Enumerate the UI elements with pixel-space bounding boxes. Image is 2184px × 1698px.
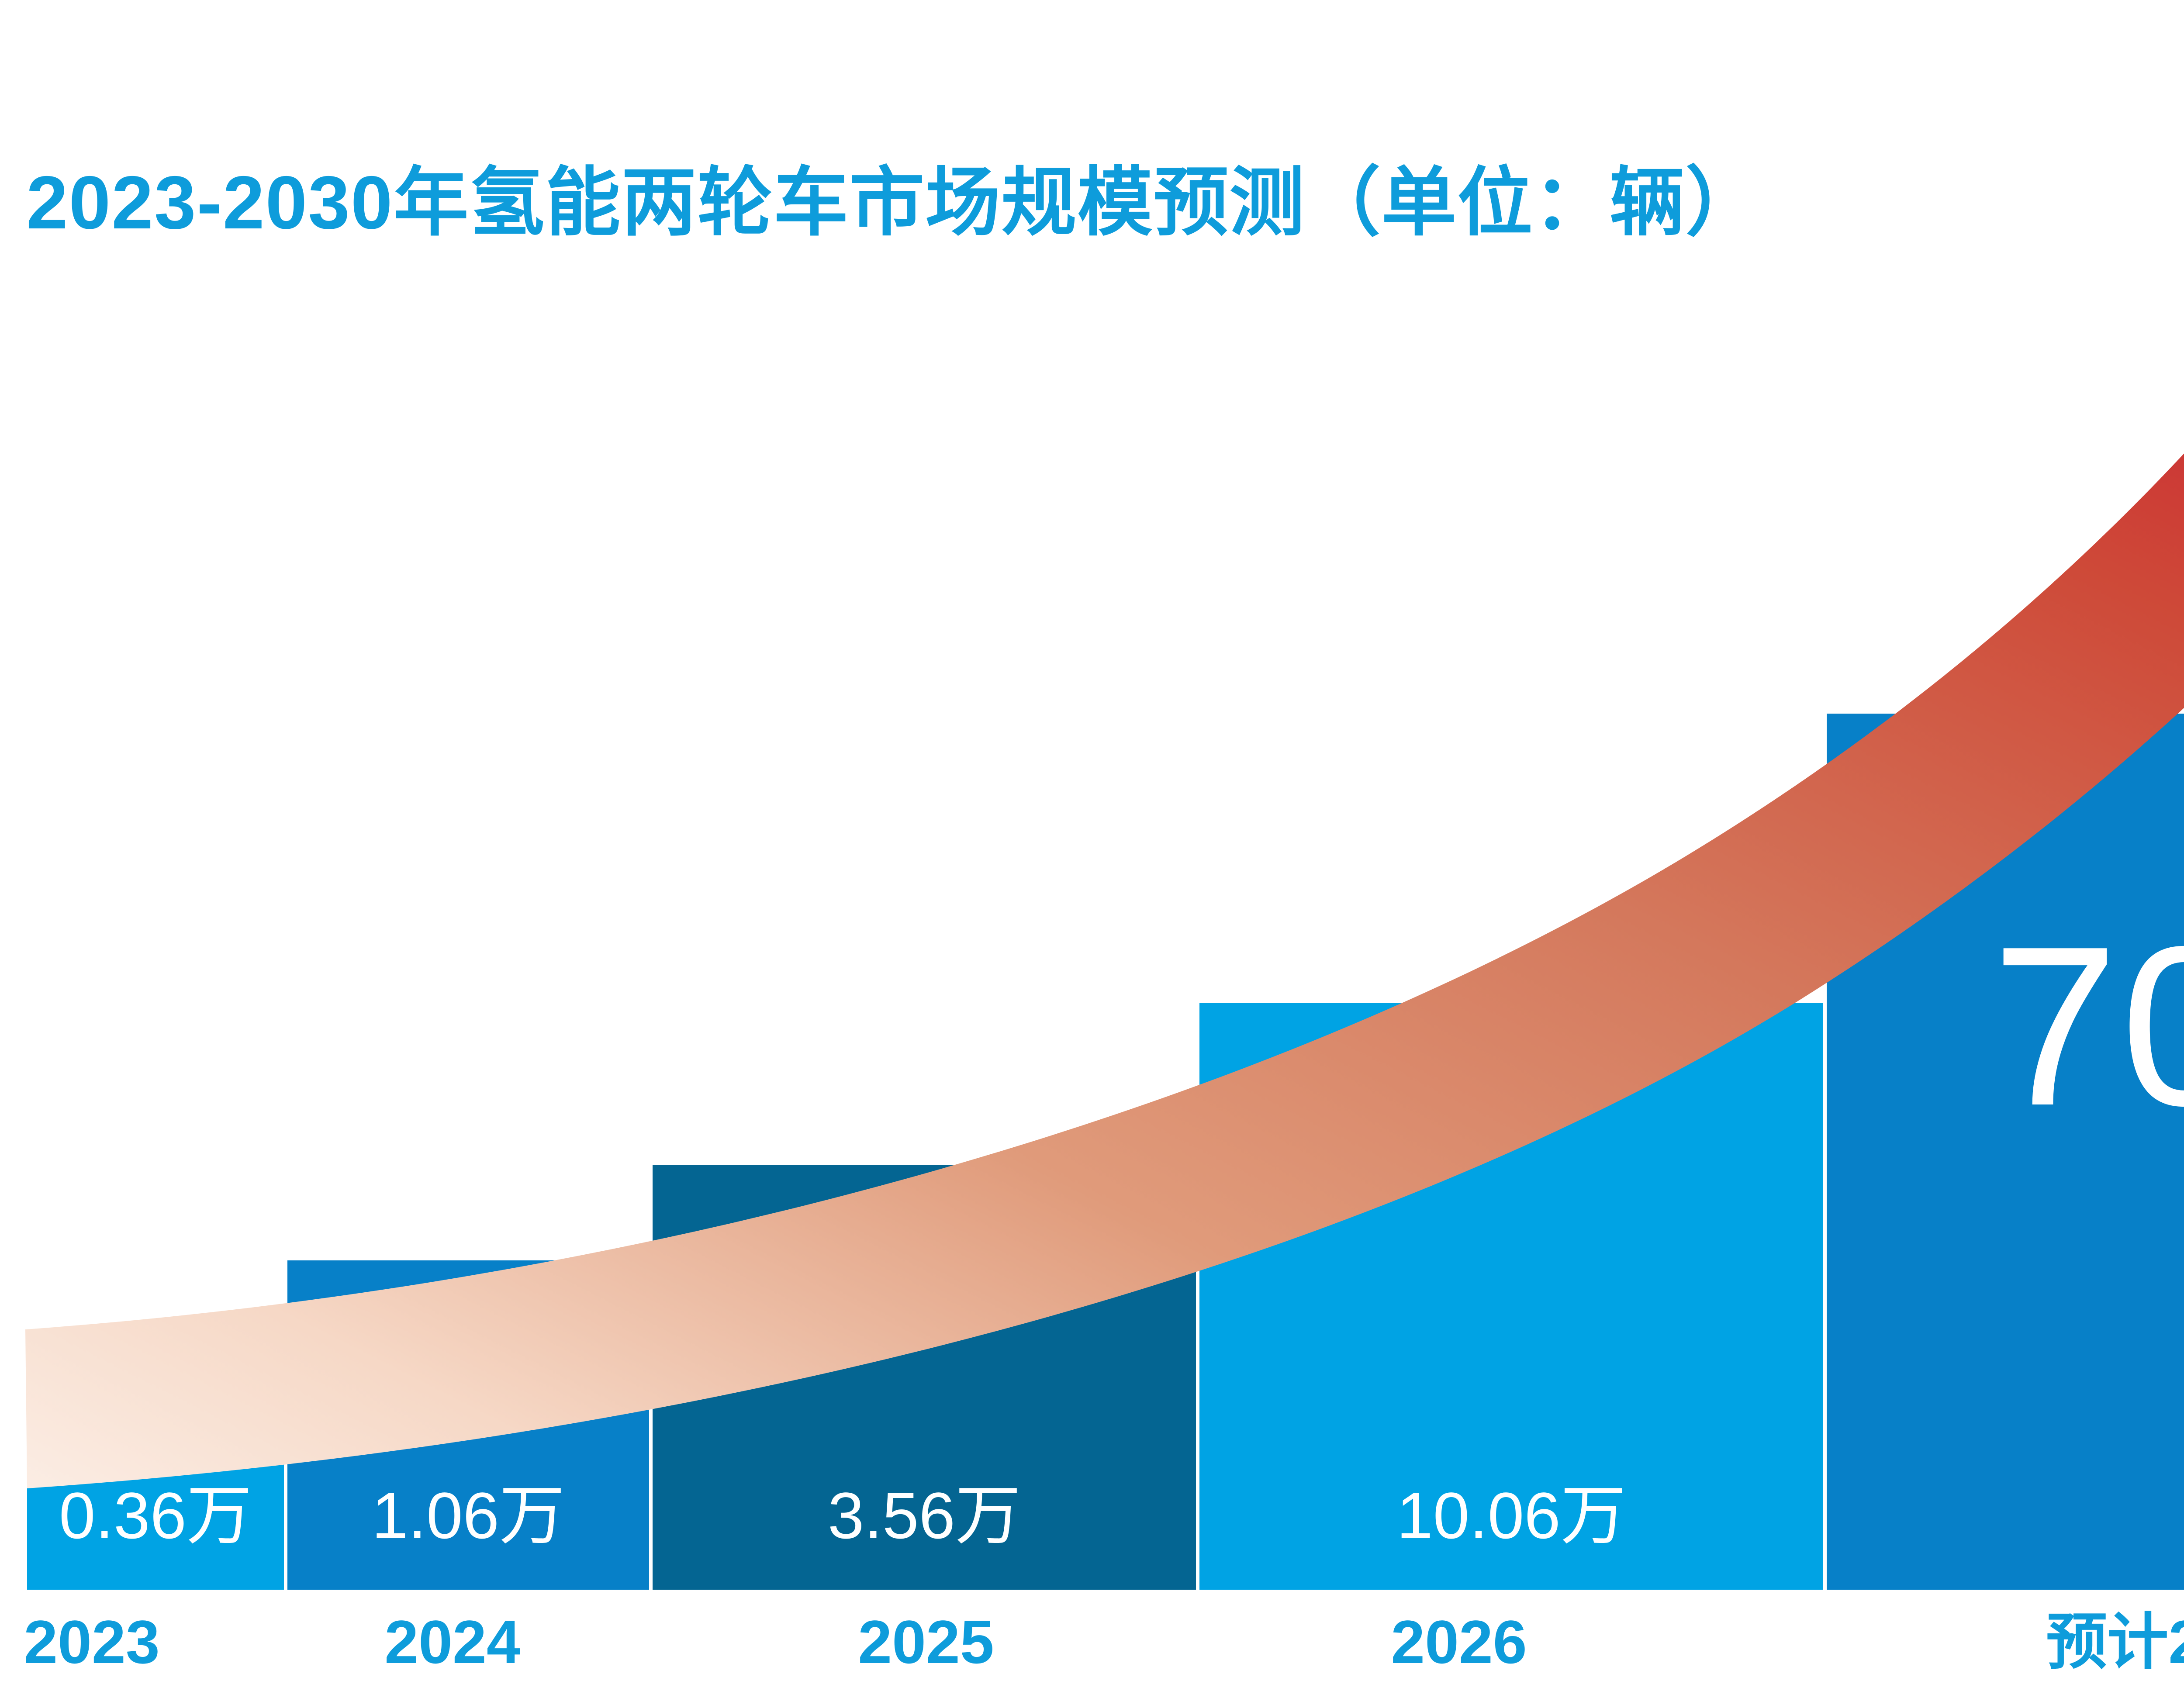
bar-value-2026: 10.06万	[1199, 1483, 1823, 1548]
bar-value-2025: 3.56万	[653, 1483, 1196, 1548]
infographic-canvas: 2023-2030年氢能两轮车市场规模预测（单位：辆） 70万 0.36万 1.…	[0, 0, 2184, 1698]
axis-label-2024: 2024	[361, 1612, 544, 1673]
axis-label-2026: 2026	[1367, 1612, 1551, 1673]
page-title: 2023-2030年氢能两轮车市场规模预测（单位：辆）	[26, 162, 1762, 244]
axis-label-2023: 2023	[0, 1612, 183, 1673]
axis-label-2030: 预计2030年增长	[1957, 1612, 2184, 1673]
chart-graphic	[0, 0, 2184, 1698]
axis-label-2025: 2025	[834, 1612, 1018, 1673]
bar-value-2024: 1.06万	[287, 1483, 649, 1548]
callout-value-2030: 70万	[1992, 913, 2184, 1140]
bar-value-2023: 0.36万	[27, 1483, 284, 1548]
